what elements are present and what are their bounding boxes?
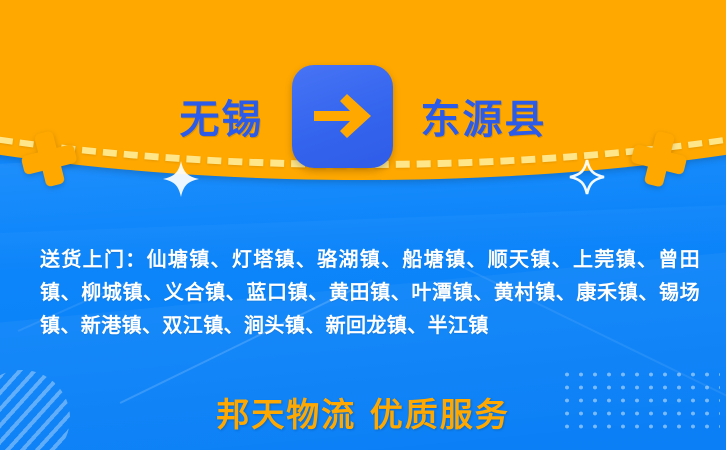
delivery-towns-text: 送货上门：仙塘镇、灯塔镇、骆湖镇、船塘镇、顺天镇、上莞镇、曾田镇、柳城镇、义合镇… <box>40 243 700 342</box>
logistics-route-banner: 无锡 东源县 送货上门：仙塘镇、灯塔镇、骆湖镇、船塘镇、顺天镇、上莞镇、曾田镇、… <box>0 0 726 450</box>
arrow-right-icon <box>292 65 393 168</box>
company-slogan: 邦天物流 优质服务 <box>0 388 726 436</box>
destination-city: 东源县 <box>421 87 547 145</box>
origin-city: 无锡 <box>180 87 264 145</box>
route-row: 无锡 东源县 <box>0 58 726 174</box>
